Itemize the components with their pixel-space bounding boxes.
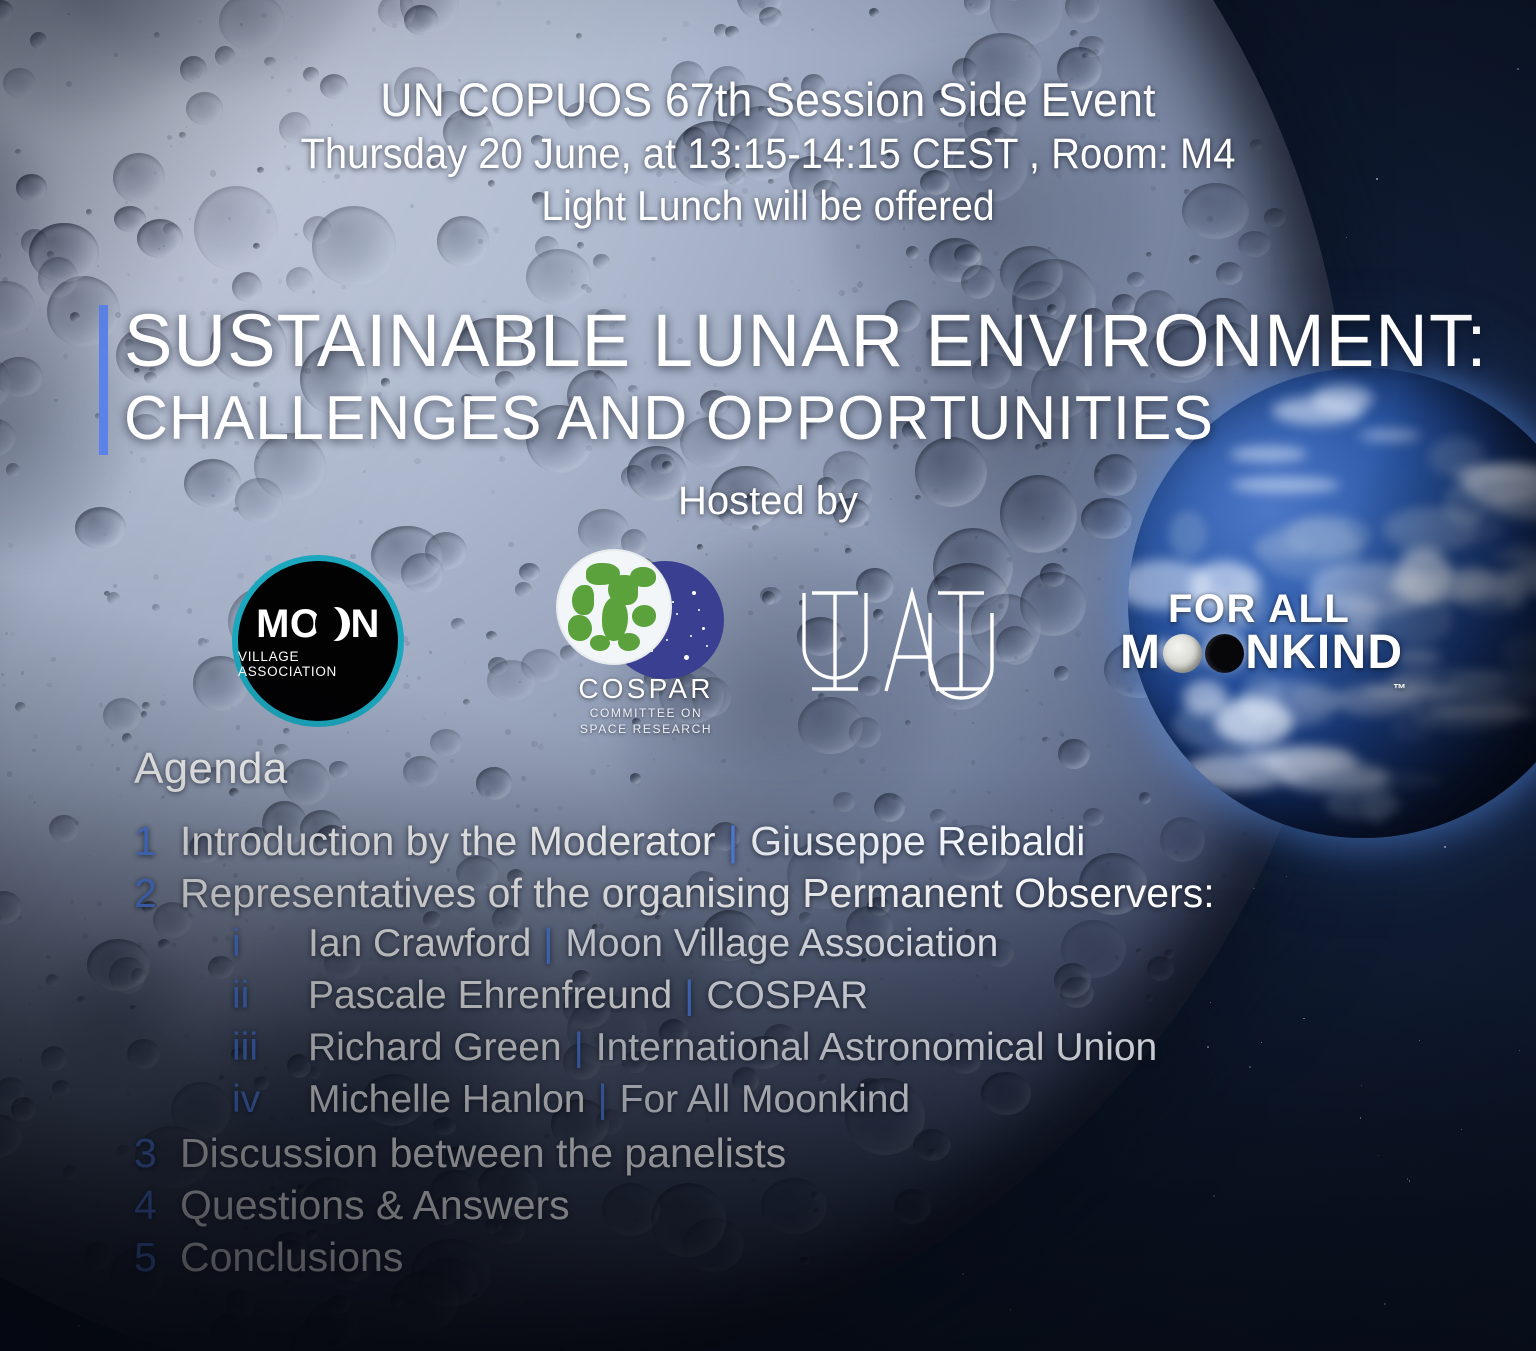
star-icon (666, 639, 668, 641)
title-accent-bar (99, 305, 108, 455)
cospar-globe-icon (556, 549, 672, 665)
mva-subtitle: VILLAGE ASSOCIATION (238, 649, 398, 679)
agenda-item-label: Discussion between the panelists (180, 1130, 786, 1177)
continent-shape (630, 567, 656, 587)
agenda-separator: | (716, 818, 751, 865)
agenda-subitem-label: Pascale Ehrenfreund (308, 974, 672, 1018)
for-all-moonkind-logo: FOR ALL M NKIND ™ (1120, 587, 1440, 697)
continent-shape (590, 635, 610, 651)
agenda-subitem: iIan Crawford|Moon Village Association (0, 922, 1536, 974)
agenda-item-number: 3 (134, 1130, 180, 1177)
agenda-item: 1Introduction by the Moderator|Giuseppe … (0, 818, 1536, 870)
moonkind-m: M (1120, 627, 1161, 679)
agenda-subitem-affiliation: COSPAR (706, 974, 868, 1018)
agenda-subitem: iiiRichard Green|International Astronomi… (0, 1026, 1536, 1078)
continent-shape (632, 605, 656, 627)
mva-word-end: N (351, 604, 380, 644)
agenda-item-label: Conclusions (180, 1234, 403, 1281)
agenda-subitem-label: Michelle Hanlon (308, 1078, 585, 1122)
agenda-subitem-number: ii (232, 974, 308, 1018)
mva-word-start: MO (256, 604, 321, 644)
mva-wordmark: MO N (256, 604, 380, 644)
agenda-item: 3Discussion between the panelists (0, 1130, 1536, 1182)
agenda-separator: | (585, 1078, 619, 1122)
agenda-subitem-number: iii (232, 1026, 308, 1070)
agenda-subitem-label: Richard Green (308, 1026, 562, 1070)
agenda-subitem-number: iv (232, 1078, 308, 1122)
agenda-item: 5Conclusions (0, 1234, 1536, 1286)
continent-shape (568, 615, 592, 641)
iau-logo (788, 571, 1006, 711)
event-session-line: UN COPUOS 67th Session Side Event (38, 72, 1497, 128)
star-icon (676, 613, 678, 615)
agenda-subitem: iiPascale Ehrenfreund|COSPAR (0, 974, 1536, 1026)
cospar-tagline: COMMITTEE ONSPACE RESEARCH (546, 705, 746, 737)
page-subtitle: CHALLENGES AND OPPORTUNITIES (124, 382, 1432, 456)
continent-shape (572, 585, 594, 615)
agenda-item-label: Questions & Answers (180, 1182, 570, 1229)
agenda-subitem-number: i (232, 922, 308, 966)
agenda-list: 1Introduction by the Moderator|Giuseppe … (0, 818, 1536, 1286)
event-lunch-line: Light Lunch will be offered (54, 180, 1482, 232)
event-header: UN COPUOS 67th Session Side Event Thursd… (0, 72, 1536, 232)
agenda-subitem-affiliation: International Astronomical Union (596, 1026, 1157, 1070)
star-icon (690, 635, 692, 637)
cospar-logo: COSPAR COMMITTEE ONSPACE RESEARCH (546, 545, 746, 750)
event-datetime-line: Thursday 20 June, at 13:15-14:15 CEST , … (54, 128, 1482, 180)
agenda-item-number: 2 (134, 870, 180, 917)
agenda-item-label: Representatives of the organising Perman… (180, 870, 1215, 917)
event-poster: UN COPUOS 67th Session Side Event Thursd… (0, 0, 1536, 1351)
new-moon-icon (1205, 634, 1244, 673)
agenda-subitem-label: Ian Crawford (308, 922, 531, 966)
star-icon (692, 591, 696, 595)
moonkind-line-1: FOR ALL (1168, 587, 1350, 631)
cospar-name: COSPAR (546, 673, 746, 705)
agenda-subitem: ivMichelle Hanlon|For All Moonkind (0, 1078, 1536, 1130)
iau-monogram-icon (788, 571, 1006, 711)
moonkind-nkind: NKIND (1245, 627, 1403, 679)
star-icon (702, 627, 705, 630)
agenda-separator: | (531, 922, 565, 966)
moonkind-line-2: M NKIND ™ (1120, 627, 1403, 679)
agenda-heading: Agenda (134, 744, 288, 794)
agenda-item: 4Questions & Answers (0, 1182, 1536, 1234)
crescent-moon-icon (323, 607, 350, 641)
host-logos: MO N VILLAGE ASSOCIATION COSPAR COMMITTE… (0, 545, 1536, 755)
page-title: SUSTAINABLE LUNAR ENVIRONMENT: (124, 300, 1432, 382)
agenda-item-label: Introduction by the Moderator (180, 818, 716, 865)
moon-village-association-logo: MO N VILLAGE ASSOCIATION (232, 555, 404, 727)
poster-title-block: SUSTAINABLE LUNAR ENVIRONMENT: CHALLENGE… (99, 300, 1459, 456)
continent-shape (618, 633, 640, 651)
agenda-subitem-affiliation: Moon Village Association (565, 922, 998, 966)
agenda-item-number: 1 (134, 818, 180, 865)
agenda-subitem-affiliation: For All Moonkind (620, 1078, 910, 1122)
star-icon (684, 655, 689, 660)
star-icon (698, 609, 700, 611)
star-icon (672, 601, 674, 603)
agenda-item-number: 5 (134, 1234, 180, 1281)
agenda-separator: | (562, 1026, 596, 1070)
hosted-by-label: Hosted by (0, 479, 1536, 524)
full-moon-icon (1163, 634, 1202, 673)
agenda-item: 2Representatives of the organising Perma… (0, 870, 1536, 922)
agenda-separator: | (672, 974, 706, 1018)
star-icon (706, 645, 708, 647)
trademark-symbol: ™ (1393, 663, 1407, 715)
agenda-item-speaker: Giuseppe Reibaldi (750, 818, 1085, 865)
agenda-item-number: 4 (134, 1182, 180, 1229)
